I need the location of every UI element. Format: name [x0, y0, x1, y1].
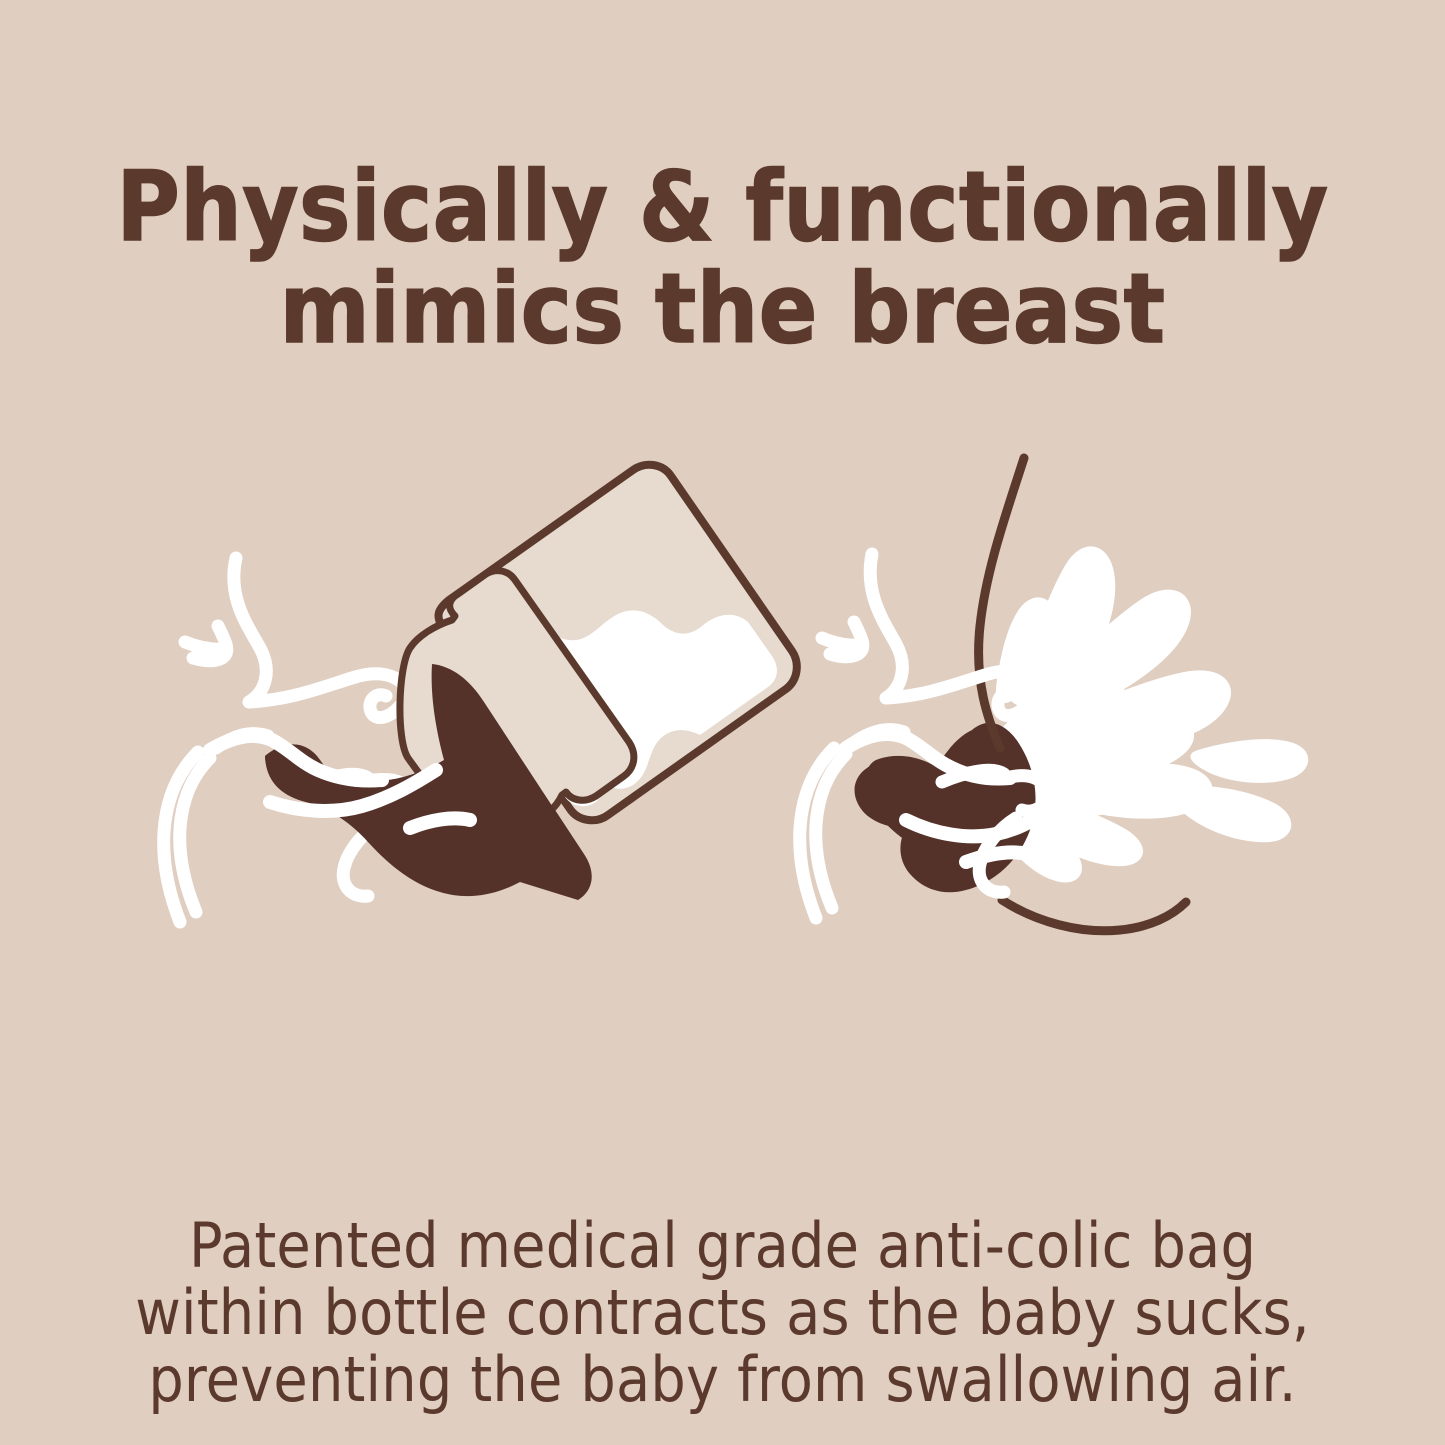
caption-line-2: within bottle contracts as the baby suck… — [0, 1279, 1445, 1346]
breast-silhouette-dark-brown — [855, 723, 1036, 892]
caption-line-3: preventing the baby from swallowing air. — [0, 1346, 1445, 1413]
caption-line-1: Patented medical grade anti-colic bag — [0, 1212, 1445, 1279]
baby-head-outline-white — [164, 558, 412, 922]
poster-canvas: Physically & functionally mimics the bre… — [0, 0, 1445, 1445]
page-title-line-2: mimics the breast — [0, 258, 1445, 360]
milk-spray-droplets-white — [983, 546, 1308, 882]
baby-breastfeeding-milk-spray-illustration — [800, 458, 1309, 931]
page-title-line-1: Physically & functionally — [0, 156, 1445, 258]
illustration-group — [0, 430, 1445, 1040]
caption-text: Patented medical grade anti-colic bag wi… — [0, 1212, 1445, 1413]
page-title: Physically & functionally mimics the bre… — [0, 156, 1445, 360]
baby-feeding-from-bottle-illustration — [164, 465, 797, 922]
